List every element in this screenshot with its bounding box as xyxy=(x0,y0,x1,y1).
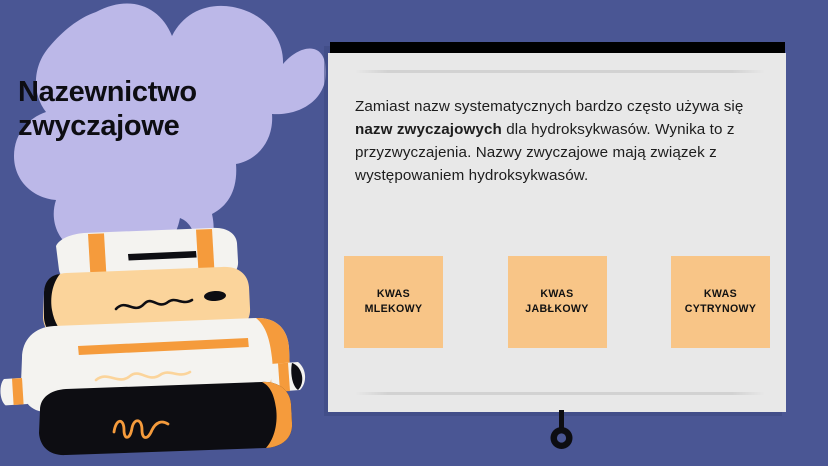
page-title: Nazewnictwo zwyczajowe xyxy=(18,76,318,144)
acid-card-cytrynowy-line-2: CYTRYNOWY xyxy=(685,302,757,317)
screen-pull-handle[interactable] xyxy=(548,410,576,452)
whiteboard-top-bar xyxy=(330,42,785,53)
whiteboard-panel: Zamiast nazw systematycznych bardzo częs… xyxy=(328,42,786,412)
stack-of-books-illustration xyxy=(0,0,330,466)
acid-card-jablkowy-line-1: KWAS xyxy=(540,287,573,302)
acid-card-mlekowy-line-2: MLEKOWY xyxy=(365,302,423,317)
acid-card-cytrynowy[interactable]: KWAS CYTRYNOWY xyxy=(671,256,770,348)
body-text-emphasis: nazw zwyczajowych xyxy=(355,121,502,138)
acid-card-jablkowy[interactable]: KWAS JABŁKOWY xyxy=(508,256,607,348)
body-text-part-1: Zamiast nazw systematycznych bardzo częs… xyxy=(355,98,743,115)
acid-card-mlekowy[interactable]: KWAS MLEKOWY xyxy=(344,256,443,348)
page-title-line-1: Nazewnictwo xyxy=(18,76,318,110)
acid-card-cytrynowy-line-1: KWAS xyxy=(704,287,737,302)
whiteboard-divider-top xyxy=(355,70,765,73)
book-black-bottom xyxy=(39,382,292,455)
acid-name-card-group: KWAS MLEKOWY KWAS JABŁKOWY KWAS CYTRYNOW… xyxy=(344,256,770,348)
page-title-line-2: zwyczajowe xyxy=(18,110,318,144)
acid-card-jablkowy-line-2: JABŁKOWY xyxy=(525,302,588,317)
acid-card-mlekowy-line-1: KWAS xyxy=(377,287,410,302)
body-paragraph: Zamiast nazw systematycznych bardzo częs… xyxy=(355,95,767,187)
whiteboard-surface: Zamiast nazw systematycznych bardzo częs… xyxy=(328,53,786,412)
whiteboard-divider-bottom xyxy=(355,392,765,395)
slide-canvas: Nazewnictwo zwyczajowe Zamiast nazw syst… xyxy=(0,0,828,466)
